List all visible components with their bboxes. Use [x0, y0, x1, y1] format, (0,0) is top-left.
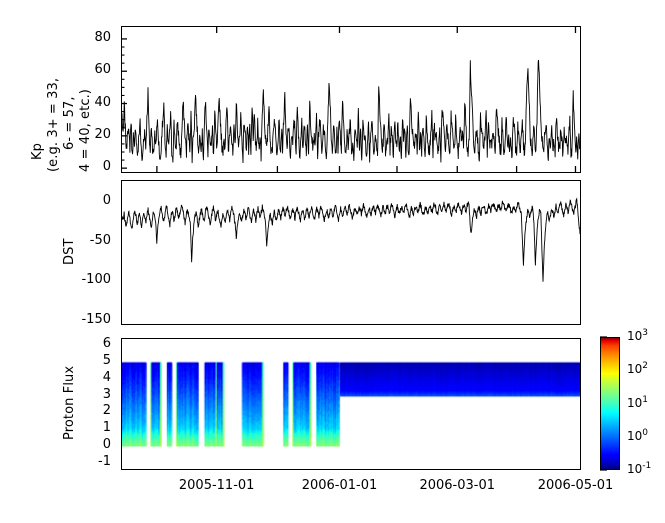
colorbar-tick-label: 10-1: [627, 461, 651, 476]
ytick-label: 20: [63, 127, 111, 142]
ytick-label: 3: [63, 387, 111, 402]
proton-flux-kp-dst-figure: Kp (e.g. 3+ = 33, 6- = 57, 4 = 40, etc.)…: [0, 0, 665, 523]
ytick-label: -150: [63, 312, 111, 327]
proton-flux-heatmap: [122, 339, 580, 469]
ytick-label: 60: [63, 62, 111, 77]
xtick-label: 2006-01-01: [285, 478, 395, 493]
dst-trace: [122, 181, 580, 324]
ytick-label: 2: [63, 403, 111, 418]
ytick-label: 1: [63, 420, 111, 435]
kp-ylabel-line2: (e.g. 3+ = 33,: [46, 78, 61, 172]
ytick-label: 0: [63, 193, 111, 208]
proton-flux-panel: [121, 338, 581, 470]
ytick-label: -50: [63, 233, 111, 248]
colorbar-tick-label: 100: [627, 428, 648, 443]
colorbar-tick-label: 103: [627, 328, 648, 343]
ytick-label: 80: [63, 30, 111, 45]
ytick-label: -1: [63, 454, 111, 469]
kp-trace: [122, 27, 580, 172]
ytick-label: 6: [63, 336, 111, 351]
ytick-label: 5: [63, 353, 111, 368]
ytick-label: 0: [63, 159, 111, 174]
kp-plot-panel: [121, 26, 581, 173]
xtick-label: 2005-11-01: [162, 478, 272, 493]
xtick-label: 2006-03-01: [402, 478, 512, 493]
ytick-label: 0: [63, 437, 111, 452]
ytick-label: 40: [63, 95, 111, 110]
colorbar: [600, 337, 620, 470]
colorbar-tick-label: 102: [627, 361, 648, 376]
ytick-label: 4: [63, 370, 111, 385]
ytick-label: -100: [63, 272, 111, 287]
kp-ylabel-line1: Kp: [30, 143, 45, 160]
colorbar-tick-label: 101: [627, 395, 648, 410]
xtick-label: 2006-05-01: [520, 478, 630, 493]
dst-plot-panel: [121, 180, 581, 325]
